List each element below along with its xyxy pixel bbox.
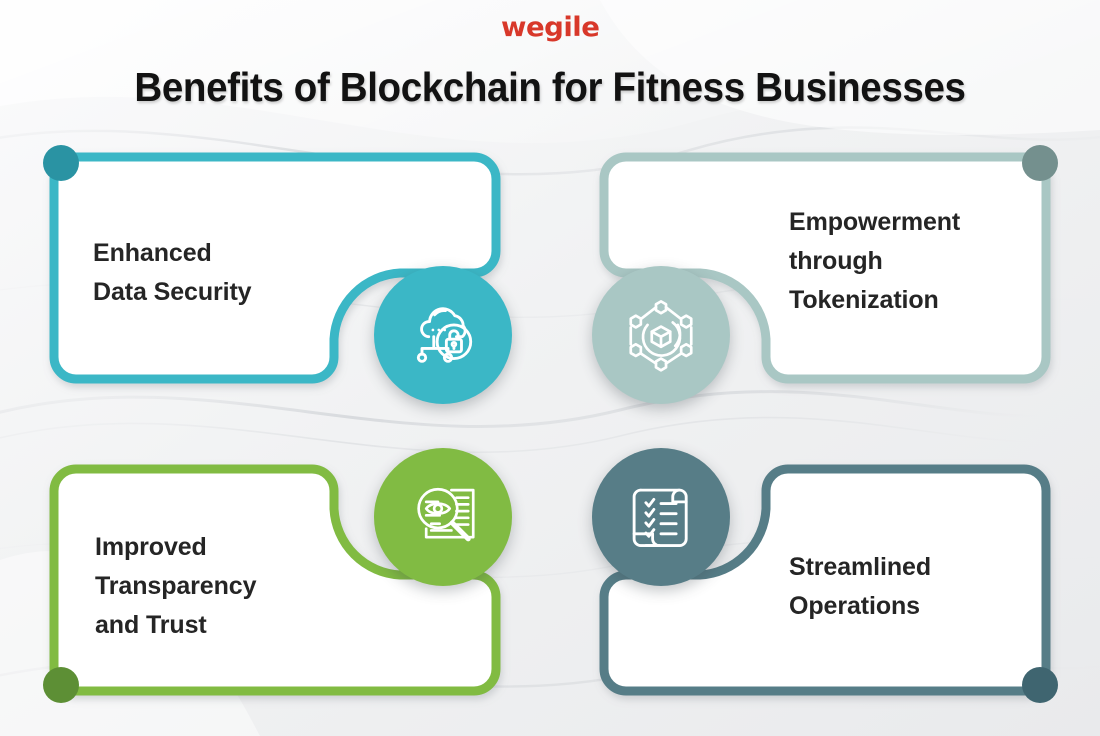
icon-circle-improved-transparency-and-trust — [374, 448, 512, 586]
card-label-improved-transparency-and-trust: Improved Transparency and Trust — [95, 528, 256, 645]
icon-circle-enhanced-data-security — [374, 266, 512, 404]
brand-logo: wegile — [0, 12, 1100, 43]
blockchain-node-cube-icon — [619, 293, 703, 377]
cloud-lock-icon — [401, 293, 485, 377]
card-dot-empowerment-through-tokenization — [1022, 145, 1058, 181]
brand-logo-text: wegile — [501, 12, 599, 43]
card-label-enhanced-data-security: Enhanced Data Security — [93, 234, 252, 312]
icon-circle-streamlined-operations — [592, 448, 730, 586]
card-label-streamlined-operations: Streamlined Operations — [789, 548, 931, 626]
page-title: Benefits of Blockchain for Fitness Busin… — [33, 63, 1067, 111]
card-dot-enhanced-data-security — [43, 145, 79, 181]
card-dot-streamlined-operations — [1022, 667, 1058, 703]
icon-circle-empowerment-through-tokenization — [592, 266, 730, 404]
magnifier-eye-document-icon — [401, 475, 485, 559]
card-dot-improved-transparency-and-trust — [43, 667, 79, 703]
card-label-empowerment-through-tokenization: Empowerment through Tokenization — [789, 203, 960, 320]
checklist-scroll-icon — [619, 475, 703, 559]
